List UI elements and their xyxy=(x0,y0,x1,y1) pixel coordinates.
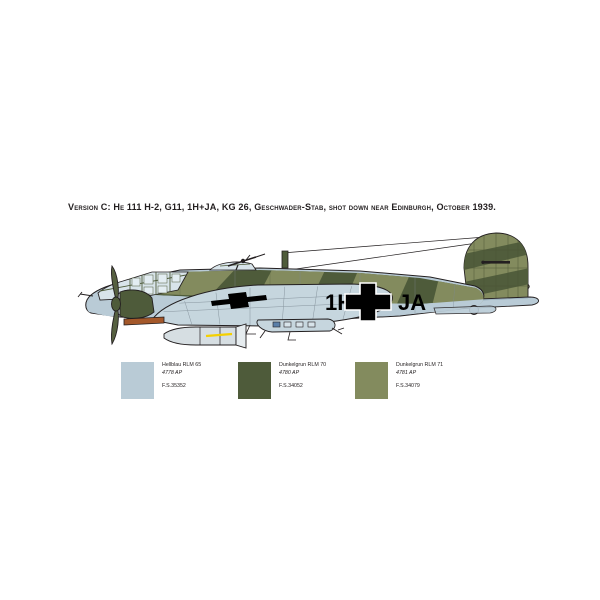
legend-swatch-2: Dunkelgrun RLM 71 4781 AP F.S.34079 xyxy=(355,362,443,399)
color-chip-dunkelgrun-rlm-71 xyxy=(355,362,388,399)
fuselage-code-right: JA xyxy=(398,290,426,315)
color-chip-hellblau-rlm-65 xyxy=(121,362,154,399)
ventral-gondola xyxy=(257,319,335,340)
color-code-1: 4780 AP xyxy=(279,371,326,376)
color-fs-0: F.S.35352 xyxy=(162,384,201,389)
color-chip-dunkelgrun-rlm-70 xyxy=(238,362,271,399)
aircraft-profile-illustration: O xyxy=(60,224,544,360)
color-fs-2: F.S.34079 xyxy=(396,384,443,389)
color-name-1: Dunkelgrun RLM 70 xyxy=(279,363,326,368)
paint-color-legend: Hellblau RLM 65 4778 AP F.S.35352 Dunkel… xyxy=(121,362,481,406)
legend-swatch-0: Hellblau RLM 65 4778 AP F.S.35352 xyxy=(121,362,201,399)
color-code-2: 4781 AP xyxy=(396,371,443,376)
propeller xyxy=(111,266,120,344)
color-name-2: Dunkelgrun RLM 71 xyxy=(396,363,443,368)
color-fs-1: F.S.34052 xyxy=(279,384,326,389)
color-code-0: 4778 AP xyxy=(162,371,201,376)
radio-mast xyxy=(282,251,288,268)
page-root: Version C: He 111 H-2, G11, 1H+JA, KG 26… xyxy=(0,0,600,600)
version-caption: Version C: He 111 H-2, G11, 1H+JA, KG 26… xyxy=(68,202,538,212)
legend-swatch-1: Dunkelgrun RLM 70 4780 AP F.S.34052 xyxy=(238,362,326,399)
color-name-0: Hellblau RLM 65 xyxy=(162,363,201,368)
external-bomb xyxy=(164,324,246,348)
